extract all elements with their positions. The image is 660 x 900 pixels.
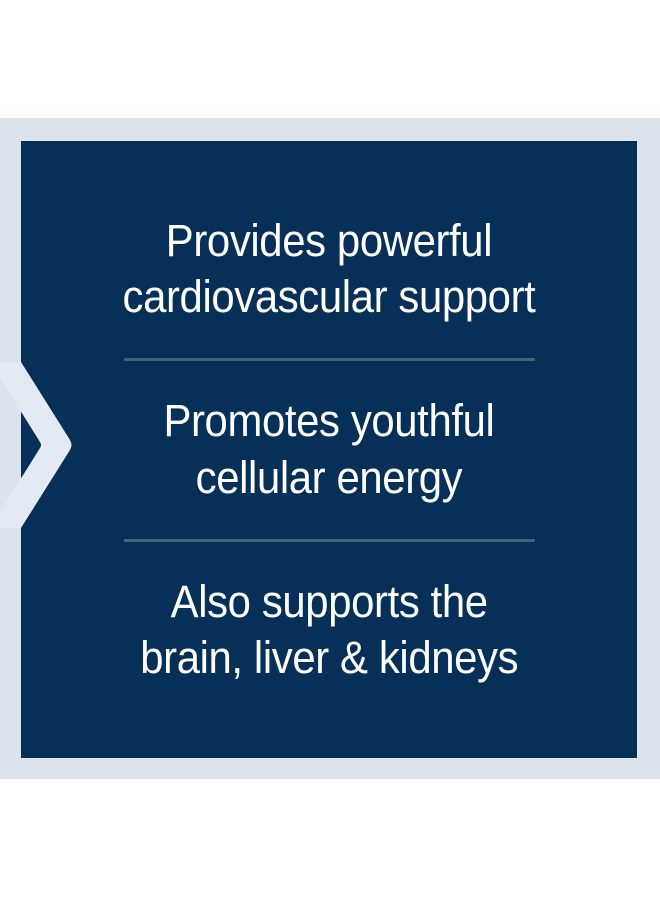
benefit-item-brain-liver-kidneys: Also supports the brain, liver & kidneys [21,574,637,687]
benefit-divider [124,539,535,542]
benefit-item-cellular-energy: Promotes youthful cellular energy [21,393,637,506]
benefit-text: Also supports the brain, liver & kidneys [108,574,549,687]
benefits-list: Provides powerful cardiovascular support… [21,213,637,687]
benefit-text: Promotes youthful cellular energy [132,393,526,506]
benefits-card: Provides powerful cardiovascular support… [21,141,637,758]
benefit-text: Provides powerful cardiovascular support [91,213,567,326]
benefit-item-cardiovascular-support: Provides powerful cardiovascular support [21,213,637,326]
product-benefits-graphic: Provides powerful cardiovascular support… [0,0,660,900]
benefit-divider [124,358,535,361]
